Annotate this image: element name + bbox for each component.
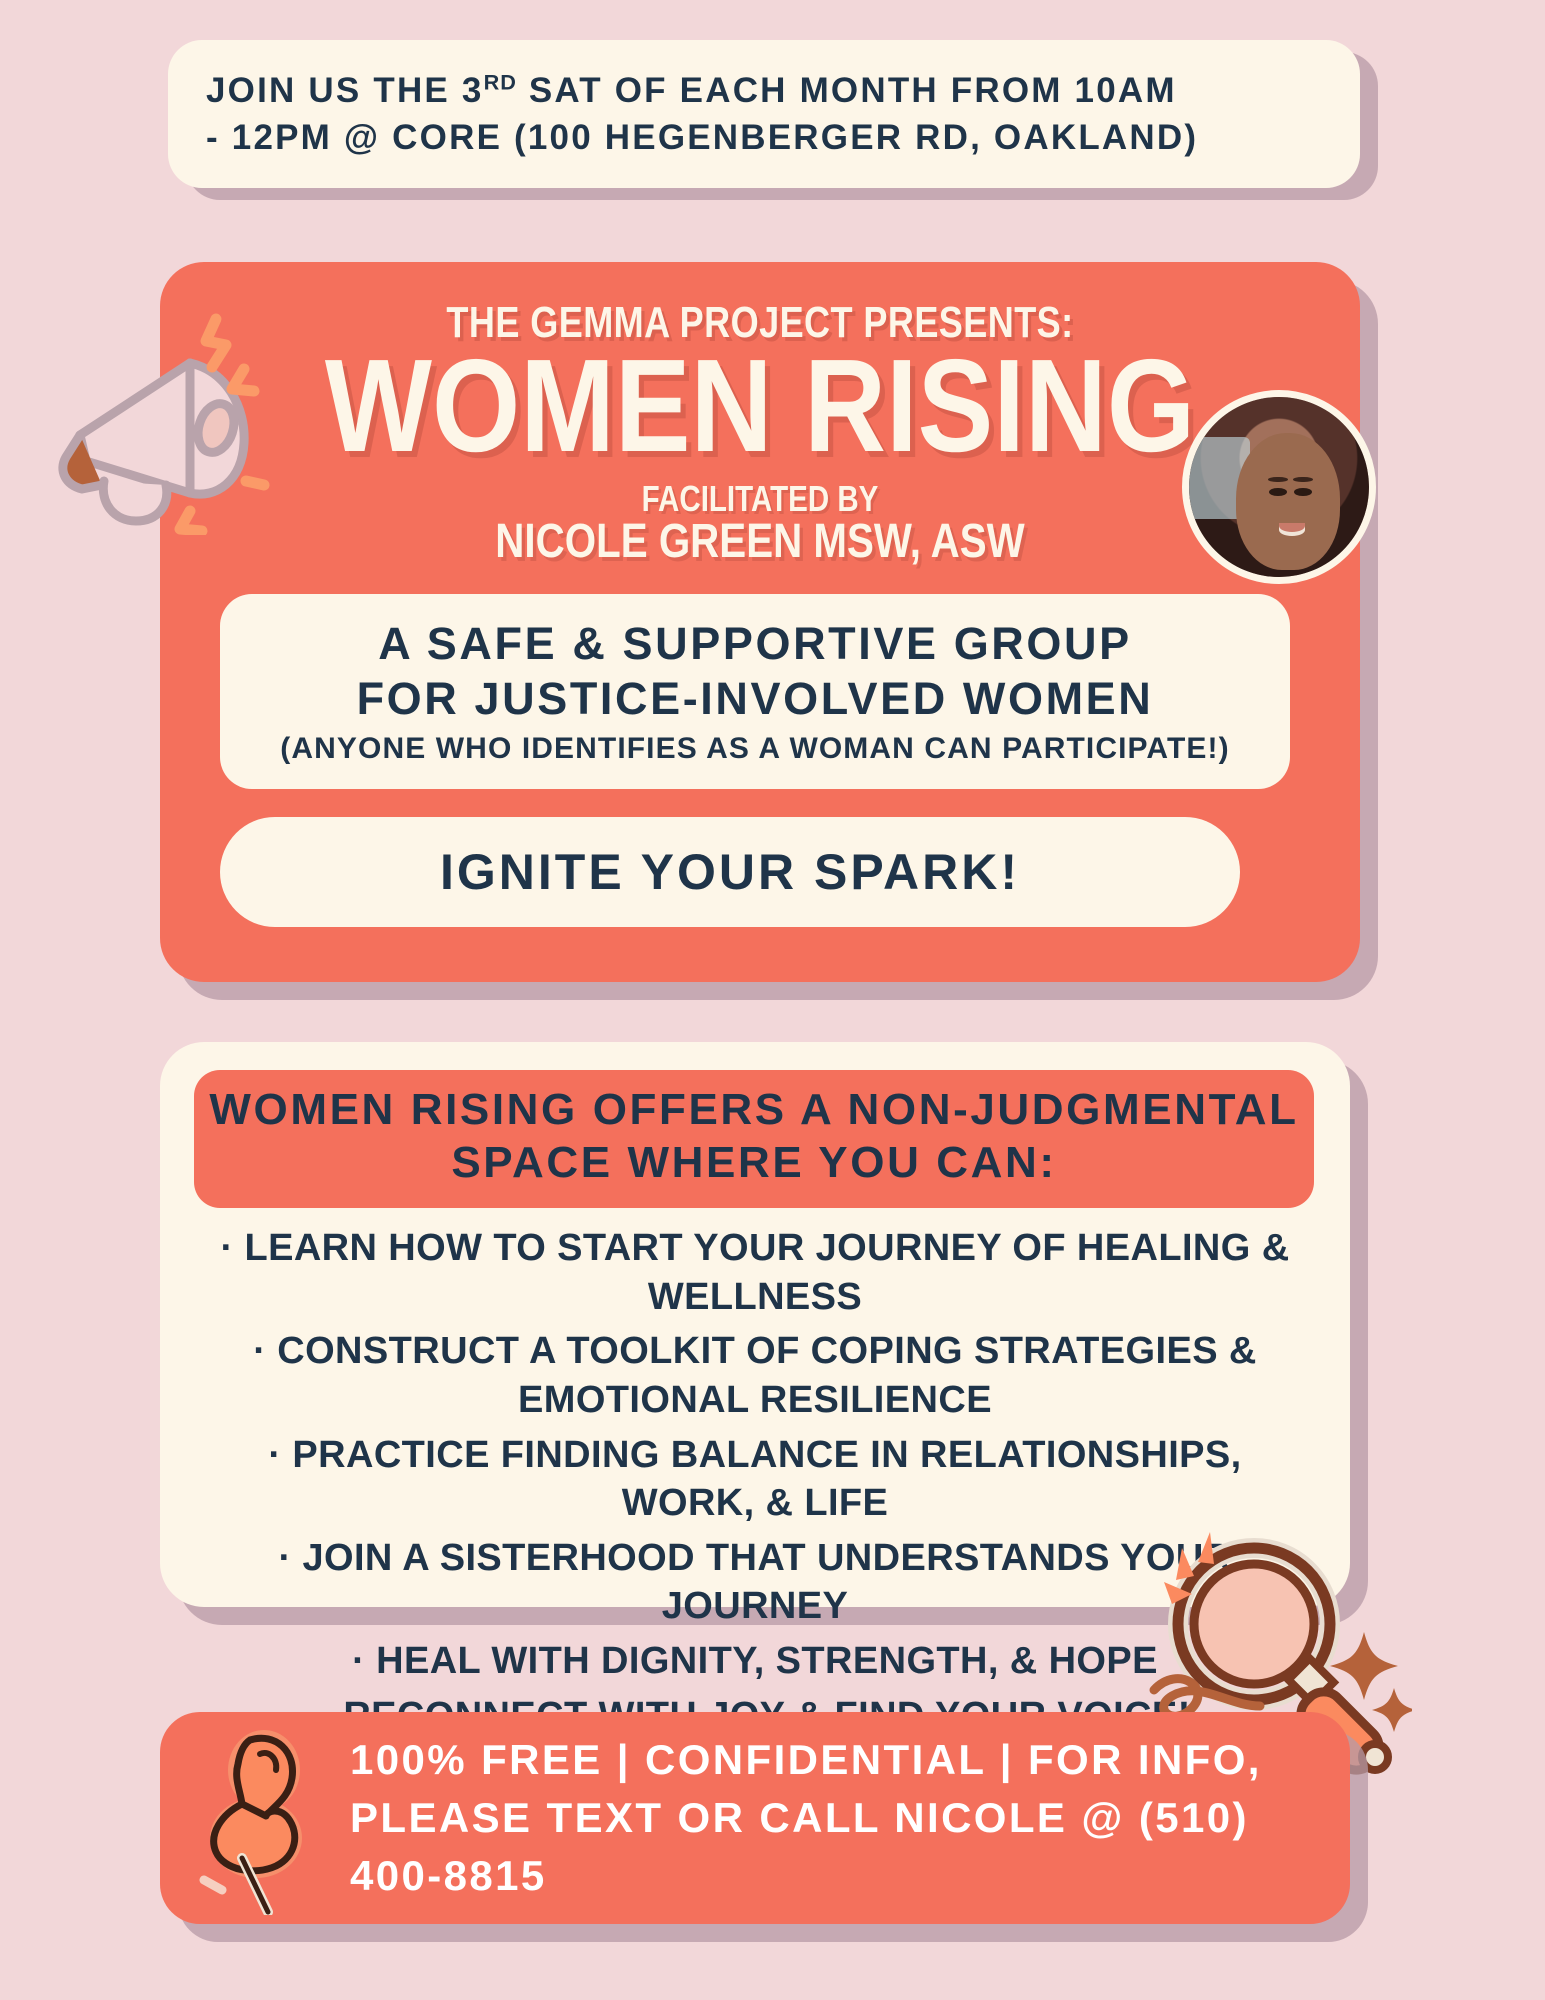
- schedule-banner: JOIN US THE 3RD SAT OF EACH MONTH FROM 1…: [168, 40, 1360, 188]
- page-title: WOMEN RISING: [244, 340, 1276, 472]
- banner-ordinal-suffix: RD: [484, 69, 517, 94]
- safe-group-line2: FOR JUSTICE-INVOLVED WOMEN: [357, 672, 1154, 727]
- contact-footer-text: 100% FREE | CONFIDENTIAL | FOR INFO, PLE…: [350, 1731, 1350, 1905]
- portrait-face: [1236, 433, 1340, 570]
- list-item: · PRACTICE FINDING BALANCE IN RELATIONSH…: [180, 1431, 1330, 1528]
- safe-group-note: (ANYONE WHO IDENTIFIES AS A WOMAN CAN PA…: [280, 732, 1229, 766]
- portrait-eyebrow-right: [1293, 477, 1313, 482]
- safe-group-line1: A SAFE & SUPPORTIVE GROUP: [378, 617, 1131, 672]
- facilitator-portrait: [1182, 390, 1376, 584]
- flyer-poster: JOIN US THE 3RD SAT OF EACH MONTH FROM 1…: [0, 0, 1545, 2000]
- safe-group-box: A SAFE & SUPPORTIVE GROUP FOR JUSTICE-IN…: [220, 594, 1290, 789]
- ignite-spark-text: IGNITE YOUR SPARK!: [440, 843, 1020, 901]
- portrait-eyebrow-left: [1268, 477, 1288, 482]
- pushpin-icon: [198, 1730, 348, 1915]
- offers-heading: WOMEN RISING OFFERS A NON-JUDGMENTAL SPA…: [194, 1070, 1314, 1208]
- banner-line2: - 12PM @ CORE (100 HEGENBERGER RD, OAKLA…: [206, 118, 1198, 157]
- portrait-eye-left: [1269, 488, 1287, 496]
- schedule-banner-text: JOIN US THE 3RD SAT OF EACH MONTH FROM 1…: [206, 67, 1198, 162]
- facilitator-name: NICOLE GREEN MSW, ASW: [256, 514, 1264, 569]
- hero-card: THE GEMMA PROJECT PRESENTS: WOMEN RISING…: [160, 262, 1360, 982]
- portrait-smile: [1279, 523, 1305, 535]
- portrait-eye-right: [1294, 488, 1312, 496]
- ignite-spark-box: IGNITE YOUR SPARK!: [220, 817, 1240, 927]
- megaphone-icon: [40, 285, 270, 535]
- contact-footer: 100% FREE | CONFIDENTIAL | FOR INFO, PLE…: [160, 1712, 1350, 1924]
- list-item: · LEARN HOW TO START YOUR JOURNEY OF HEA…: [180, 1224, 1330, 1321]
- banner-line1-post: SAT OF EACH MONTH FROM 10AM: [517, 71, 1177, 110]
- list-item: · CONSTRUCT A TOOLKIT OF COPING STRATEGI…: [180, 1327, 1330, 1424]
- banner-line1-pre: JOIN US THE 3: [206, 71, 484, 110]
